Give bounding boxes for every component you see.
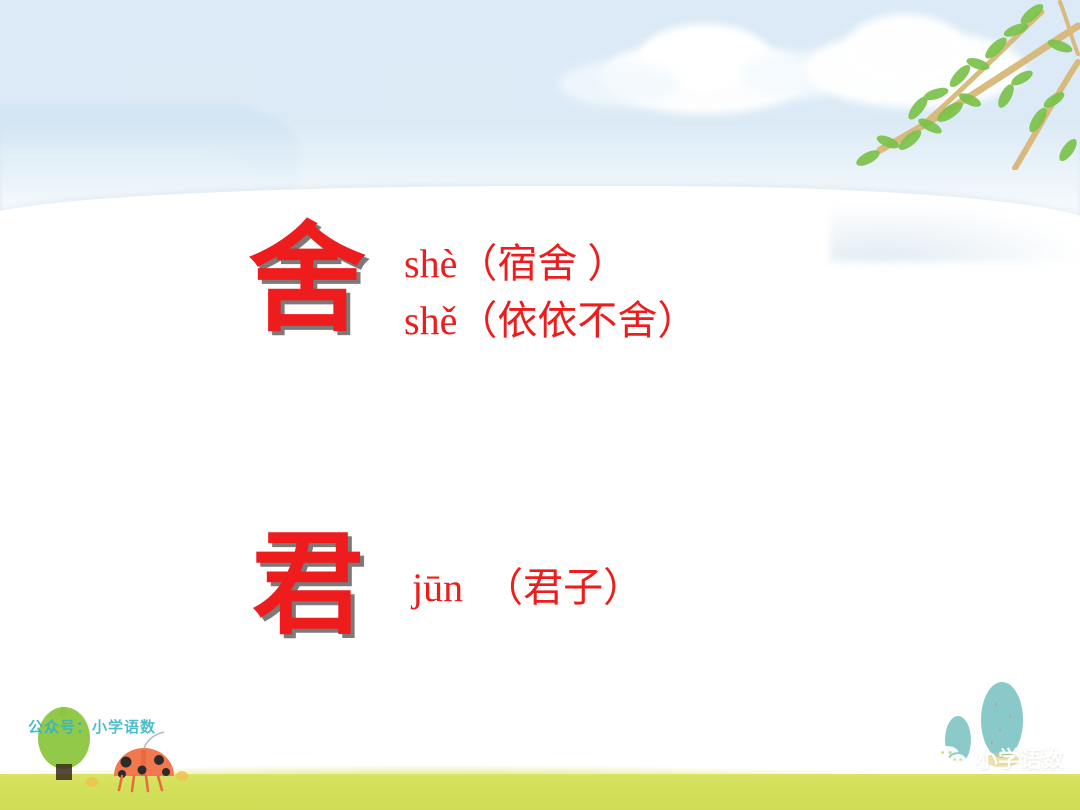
- willow-branch-decoration: [810, 0, 1080, 170]
- wechat-icon: [934, 744, 968, 772]
- watermark-right-label: 小学语数: [976, 742, 1064, 774]
- reading-jun-1: jūn （君子）: [412, 560, 643, 617]
- branch-icon: [810, 0, 1080, 170]
- paper-edge-shadow: [830, 200, 1080, 262]
- reading-she-2: shě（依依不舍）: [404, 293, 697, 350]
- watermark-left: 公众号：小学语数: [28, 716, 156, 737]
- readings-jun: jūn （君子）: [412, 530, 643, 617]
- readings-she: shè（宿舍 ） shě（依依不舍）: [404, 222, 697, 350]
- character-jun: 君: [252, 530, 402, 642]
- watermark-right: 小学语数: [934, 742, 1064, 774]
- entry-row-she: 舍 shè（宿舍 ） shě（依依不舍）: [248, 222, 697, 350]
- reading-she-1: shè（宿舍 ）: [404, 236, 697, 293]
- character-she: 舍: [248, 222, 398, 340]
- slide-canvas: 公众号：小学语数 小学语数 舍 shè（宿舍 ） shě（依依不舍） 君 jūn…: [0, 0, 1080, 810]
- cloud-center-left-puff: [560, 62, 680, 106]
- entry-row-jun: 君 jūn （君子）: [252, 530, 643, 642]
